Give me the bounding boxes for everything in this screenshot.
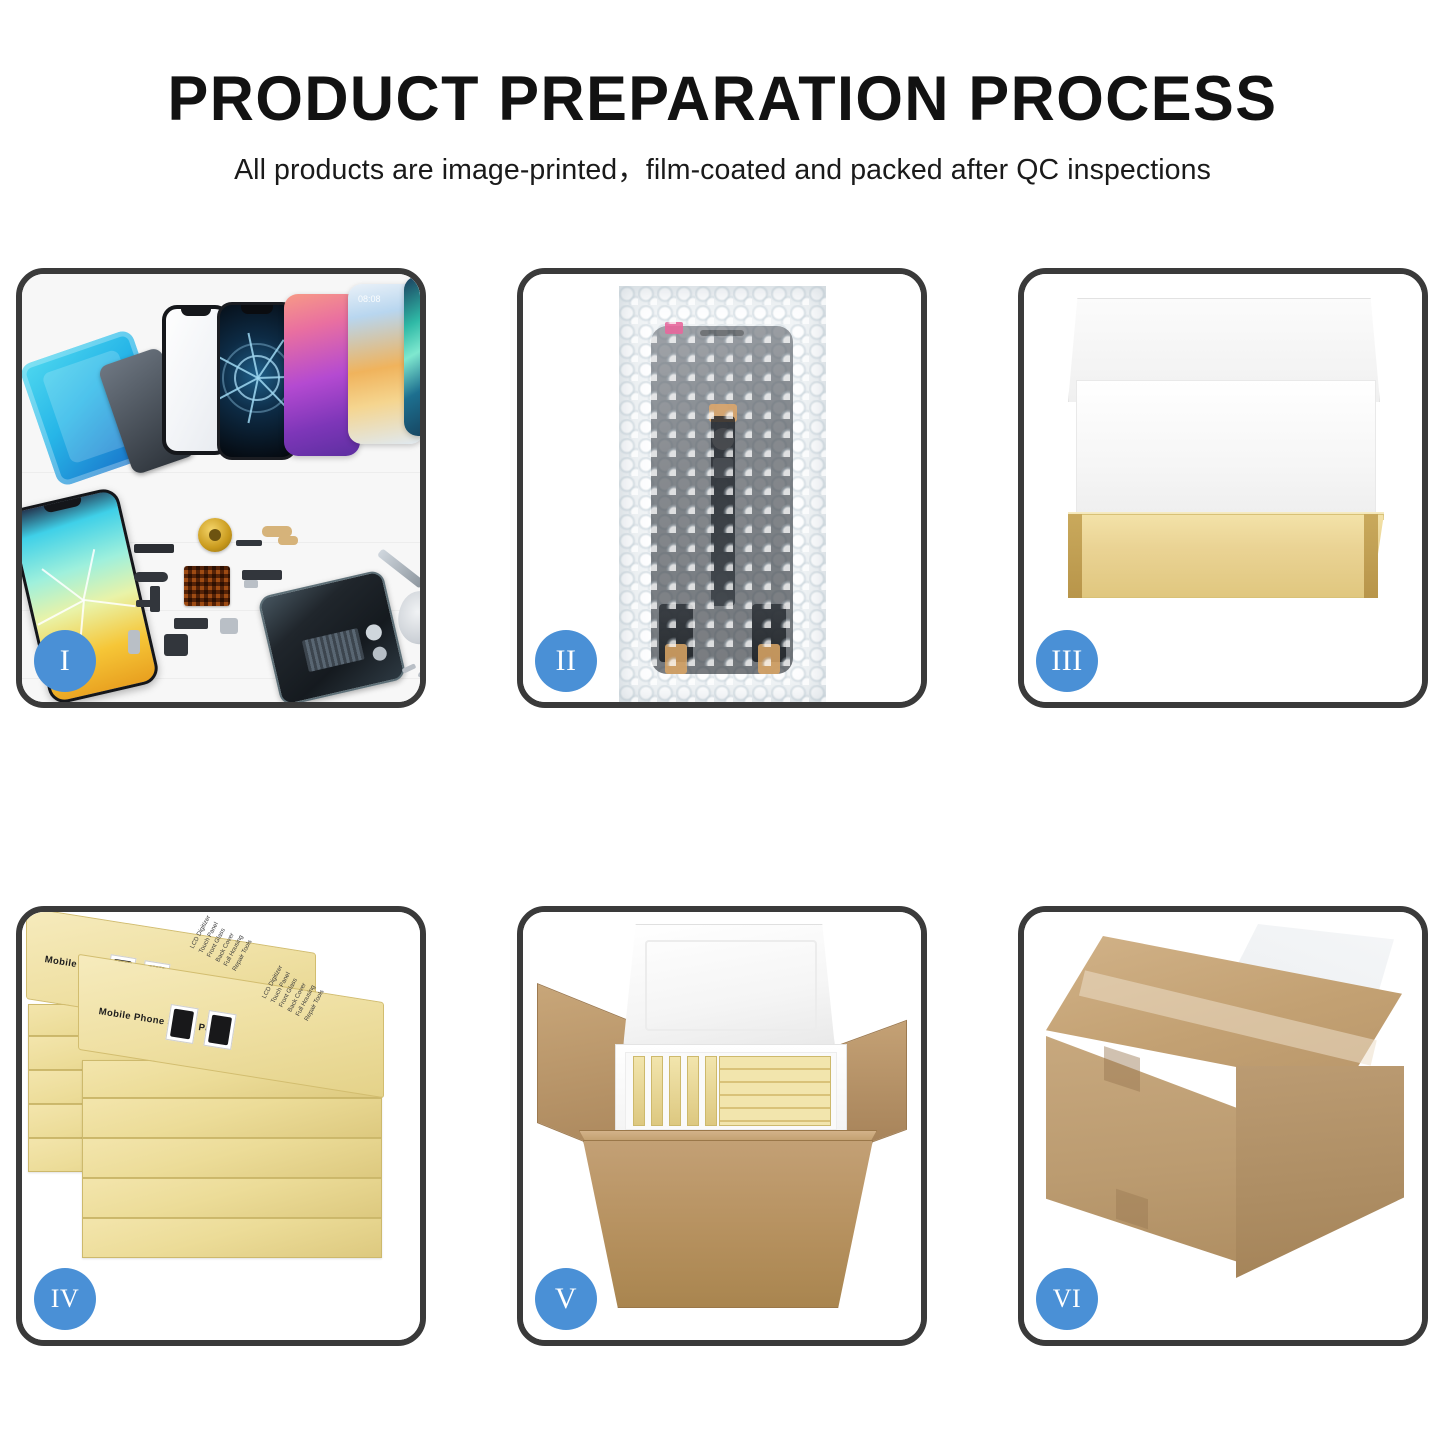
flex-cable-icon [134, 572, 168, 582]
carton-front-icon [1046, 1036, 1238, 1262]
foam-cooler-lid-icon [623, 924, 835, 1048]
gold-contact-icon [758, 644, 780, 674]
step-badge-3: III [1036, 630, 1098, 692]
flex-cable-icon [242, 570, 282, 580]
box-front-icon [1068, 514, 1384, 598]
camera-module-icon [220, 618, 238, 634]
speaker-part-icon [164, 634, 188, 656]
box-side-left-icon [1068, 514, 1082, 598]
screw-icon [418, 672, 420, 681]
step-panel-4: Mobile Phone Spare Parts LCD Digitizer T… [16, 906, 426, 1346]
step-badge-4: IV [34, 1268, 96, 1330]
lcd-screen-icon [651, 326, 793, 674]
step-panel-1: 08:08 [16, 268, 426, 708]
wireless-coil-icon [198, 518, 232, 552]
sim-tray-icon [128, 630, 140, 654]
flex-cable-icon [136, 600, 158, 607]
home-button-icon [712, 428, 734, 450]
box-photo-icon [165, 1004, 198, 1044]
foam-sheet-icon [1076, 380, 1376, 520]
step-panel-3: III [1018, 268, 1428, 708]
step-panel-6: VI [1018, 906, 1428, 1346]
phone-status-text: 08:08 [358, 294, 381, 304]
box-photo-icon [203, 1010, 236, 1050]
retail-box-icon [651, 1056, 663, 1126]
ic-chip-icon [184, 566, 230, 606]
step-badge-2: II [535, 630, 597, 692]
teal-phone-icon [404, 276, 420, 436]
step-badge-5: V [535, 1268, 597, 1330]
gold-contact-icon [709, 404, 737, 422]
retail-box-icon [633, 1056, 645, 1126]
step-panel-2: II [517, 268, 927, 708]
carton-side-icon [1236, 1066, 1404, 1278]
ic-chip-icon [713, 458, 733, 478]
flex-cable-icon [150, 586, 160, 612]
connector-icon [244, 580, 258, 588]
pink-label-icon [665, 322, 683, 334]
retail-box-group-icon [719, 1056, 831, 1126]
retail-box-icon [705, 1056, 717, 1126]
bubble-bag-icon [619, 286, 826, 702]
product-preparation-infographic: PRODUCT PREPARATION PROCESS All products… [0, 0, 1445, 1445]
step-panel-5: V [517, 906, 927, 1346]
flex-cable-icon [236, 540, 262, 546]
vibration-motor-icon [174, 618, 208, 629]
connector-icon [752, 604, 786, 662]
connector-icon [659, 604, 693, 662]
carton-body-icon [583, 1140, 873, 1308]
retail-box-icon [669, 1056, 681, 1126]
step-badge-6: VI [1036, 1268, 1098, 1330]
steps-grid: 08:08 [0, 0, 1445, 1445]
flex-cable-icon [711, 416, 735, 606]
retail-box-icon [687, 1056, 699, 1126]
flex-cable-icon [278, 536, 298, 545]
box-side-right-icon [1364, 514, 1378, 598]
gold-contact-icon [665, 644, 687, 674]
step-badge-1: I [34, 630, 96, 692]
phone-housing-icon [257, 569, 407, 702]
speaker-part-icon [134, 544, 174, 553]
